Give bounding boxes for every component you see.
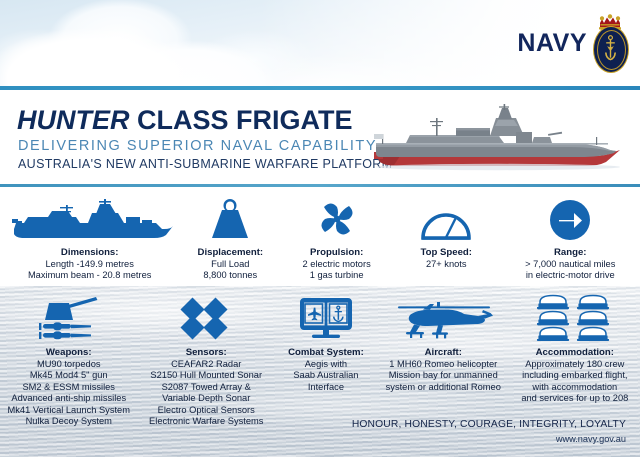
speedometer-icon <box>419 195 473 241</box>
spec-sensors-heading: Sensors: <box>149 347 263 358</box>
infographic-poster: NAVY HUNTER CLASS FRIGATE D <box>0 0 640 457</box>
navy-values-motto: HONOUR, HONESTY, COURAGE, INTEGRITY, LOY… <box>352 419 626 430</box>
spec-sensors-line-5: Electro Optical Sensors <box>149 405 263 416</box>
spec-combat-system-line-2: Saab Australian <box>288 370 364 381</box>
spec-accommodation-line-2: including embarked flight, <box>521 370 628 381</box>
navy-logo-lockup: NAVY <box>517 12 630 74</box>
helicopter-icon <box>390 293 496 341</box>
spec-dimensions-line-2: Maximum beam - 20.8 metres <box>28 270 151 281</box>
spec-range-line-1: > 7,000 nautical miles <box>525 259 615 270</box>
spec-accommodation-heading: Accommodation: <box>521 347 628 358</box>
spec-sensors-caption: Sensors: CEAFAR2 Radar S2150 Hull Mounte… <box>149 347 263 427</box>
title-word-rest: CLASS FRIGATE <box>137 105 353 135</box>
specs-row-secondary: Weapons: MU90 torpedos Mk45 Mod4 5" gun … <box>0 286 640 457</box>
navy-wordmark: NAVY <box>517 31 587 56</box>
page-title: HUNTER CLASS FRIGATE <box>17 107 353 134</box>
title-band: HUNTER CLASS FRIGATE DELIVERING SUPERIOR… <box>0 90 640 184</box>
spec-sensors-line-4: Variable Depth Sonar <box>149 393 263 404</box>
spec-accommodation-line-1: Approximately 180 crew <box>521 359 628 370</box>
spec-weapons-heading: Weapons: <box>8 347 130 358</box>
spec-dimensions-caption: Dimensions: Length -149.9 metres Maximum… <box>28 247 151 282</box>
spec-propulsion: Propulsion: 2 electric motors 1 gas turb… <box>281 187 392 286</box>
title-tagline: AUSTRALIA'S NEW ANTI-SUBMARINE WARFARE P… <box>18 157 392 171</box>
radar-diamonds-icon <box>180 293 232 341</box>
spec-displacement-heading: Displacement: <box>198 247 264 258</box>
spec-aircraft-caption: Aircraft: 1 MH60 Romeo helicopter Missio… <box>386 347 501 393</box>
hunter-class-frigate-render <box>348 104 630 174</box>
warship-silhouette-icon <box>6 195 174 241</box>
spec-top-speed: Top Speed: 27+ knots <box>392 187 501 286</box>
sailor-caps-icon <box>535 293 615 341</box>
specs-row-primary: Dimensions: Length -149.9 metres Maximum… <box>0 187 640 286</box>
spec-sensors-line-2: S2150 Hull Mounted Sonar <box>149 370 263 381</box>
spec-combat-system-caption: Combat System: Aegis with Saab Australia… <box>288 347 364 393</box>
spec-combat-system: Combat System: Aegis with Saab Australia… <box>275 286 377 457</box>
spec-accommodation-line-3: with accommodation <box>521 382 628 393</box>
naval-gun-and-missiles-icon <box>33 293 105 341</box>
spec-aircraft-heading: Aircraft: <box>386 347 501 358</box>
spec-top-speed-heading: Top Speed: <box>420 247 472 258</box>
title-word-hunter: HUNTER <box>17 105 130 135</box>
arrow-right-circle-icon <box>549 195 591 241</box>
spec-combat-system-heading: Combat System: <box>288 347 364 358</box>
spec-accommodation: Accommodation: Approximately 180 crew in… <box>510 286 640 457</box>
spec-range-line-2: in electric-motor drive <box>525 270 615 281</box>
spec-displacement: Displacement: Full Load 8,800 tonnes <box>179 187 281 286</box>
navy-website-url[interactable]: www.navy.gov.au <box>556 434 626 444</box>
spec-displacement-caption: Displacement: Full Load 8,800 tonnes <box>198 247 264 282</box>
spec-combat-system-line-1: Aegis with <box>288 359 364 370</box>
spec-sensors-line-1: CEAFAR2 Radar <box>149 359 263 370</box>
navy-crest-icon <box>590 12 630 74</box>
spec-range-caption: Range: > 7,000 nautical miles in electri… <box>525 247 615 282</box>
fouled-anchor-icon <box>604 35 617 63</box>
combat-display-monitor-icon <box>299 293 353 341</box>
spec-aircraft-line-1: 1 MH60 Romeo helicopter <box>386 359 501 370</box>
spec-displacement-line-1: Full Load <box>198 259 264 270</box>
spec-sensors-line-3: S2087 Towed Array & <box>149 382 263 393</box>
weight-icon <box>207 195 253 241</box>
spec-combat-system-line-3: Interface <box>288 382 364 393</box>
spec-dimensions: Dimensions: Length -149.9 metres Maximum… <box>0 187 179 286</box>
spec-weapons-line-3: SM2 & ESSM missiles <box>8 382 130 393</box>
spec-sensors: Sensors: CEAFAR2 Radar S2150 Hull Mounte… <box>137 286 274 457</box>
spec-top-speed-caption: Top Speed: 27+ knots <box>420 247 472 270</box>
spec-aircraft-line-2: Mission bay for unmanned <box>386 370 501 381</box>
propeller-icon <box>315 195 359 241</box>
spec-displacement-line-2: 8,800 tonnes <box>198 270 264 281</box>
title-subtitle: DELIVERING SUPERIOR NAVAL CAPABILITY <box>18 138 377 154</box>
spec-weapons-line-4: Advanced anti-ship missiles <box>8 393 130 404</box>
spec-dimensions-line-1: Length -149.9 metres <box>28 259 151 270</box>
spec-propulsion-line-1: 2 electric motors <box>303 259 371 270</box>
spec-sensors-line-6: Electronic Warfare Systems <box>149 416 263 427</box>
spec-aircraft: Aircraft: 1 MH60 Romeo helicopter Missio… <box>377 286 510 457</box>
spec-range-heading: Range: <box>525 247 615 258</box>
spec-weapons: Weapons: MU90 torpedos Mk45 Mod4 5" gun … <box>0 286 137 457</box>
spec-weapons-caption: Weapons: MU90 torpedos Mk45 Mod4 5" gun … <box>8 347 130 427</box>
spec-weapons-line-6: Nulka Decoy System <box>8 416 130 427</box>
spec-weapons-line-2: Mk45 Mod4 5" gun <box>8 370 130 381</box>
spec-propulsion-line-2: 1 gas turbine <box>303 270 371 281</box>
spec-aircraft-line-3: system or additional Romeo <box>386 382 501 393</box>
spec-top-speed-line-1: 27+ knots <box>420 259 472 270</box>
spec-weapons-line-5: Mk41 Vertical Launch System <box>8 405 130 416</box>
spec-propulsion-heading: Propulsion: <box>303 247 371 258</box>
spec-accommodation-caption: Accommodation: Approximately 180 crew in… <box>521 347 628 405</box>
spec-accommodation-line-4: and services for up to 208 <box>521 393 628 404</box>
spec-range: Range: > 7,000 nautical miles in electri… <box>501 187 640 286</box>
spec-propulsion-caption: Propulsion: 2 electric motors 1 gas turb… <box>303 247 371 282</box>
spec-dimensions-heading: Dimensions: <box>28 247 151 258</box>
spec-weapons-line-1: MU90 torpedos <box>8 359 130 370</box>
